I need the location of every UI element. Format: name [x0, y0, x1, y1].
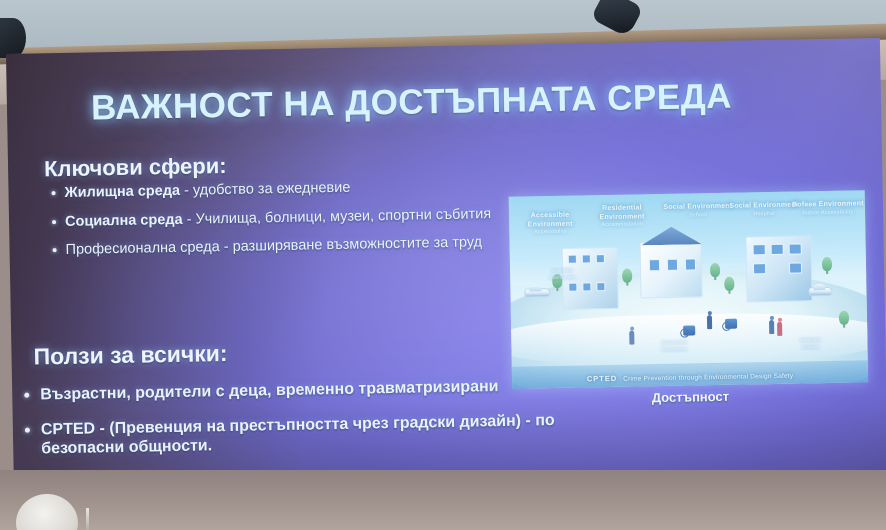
- figure-label: Bofeee Environment Indoor Accessibility: [791, 200, 865, 217]
- figure-inner-tag-sub: Entrepreneur: [641, 346, 707, 354]
- tree-icon: [822, 257, 832, 271]
- microphone-stand: [86, 508, 89, 530]
- figure-inner-tag: Accessible Environment: [532, 267, 592, 281]
- figure-label-sub: Accommodation: [583, 221, 661, 229]
- figure-label-sub: Hospital: [727, 210, 801, 218]
- list-item: Възрастни, родители с деца, временно тра…: [20, 376, 565, 405]
- key-areas-list: Жилищна среда - удобство за ежедневие Со…: [48, 177, 501, 259]
- figure-inner-tag-sub: Environment: [532, 274, 592, 282]
- figure-label-title: Social Environment: [663, 203, 732, 211]
- bullet-lead: Жилищна среда: [64, 183, 180, 201]
- figure-inner-tag: Workplace Inclusive: [779, 337, 841, 351]
- figure-label-title: Social Environment: [729, 202, 798, 210]
- bullet-rest: CPTED - (Превенция на престъпността чрез…: [41, 412, 555, 457]
- list-item: Социална среда - Училища, болници, музеи…: [49, 205, 501, 230]
- figure-label-title: Accessible Environment: [528, 212, 573, 228]
- tree-icon: [724, 277, 734, 291]
- figure-label: Accessible Environment Accessibility: [513, 211, 587, 236]
- vehicle-icon: [524, 288, 550, 297]
- projected-slide: ВАЖНОСТ НА ДОСТЪПНАТА СРЕДА Ключови сфер…: [6, 38, 886, 506]
- wheelchair-icon: [725, 319, 737, 329]
- bullet-lead: Социална среда: [65, 211, 183, 229]
- room-foreground-surface: [0, 470, 886, 530]
- figure-label-sub: School: [661, 211, 735, 219]
- wheelchair-icon: [683, 325, 695, 335]
- person-icon: [777, 322, 782, 336]
- bullet-rest: Възрастни, родители с деца, временно тра…: [40, 378, 499, 403]
- vehicle-icon: [808, 287, 832, 296]
- bullet-rest: - удобство за ежедневие: [180, 180, 351, 199]
- ceiling-fixture-secondary: [0, 18, 26, 58]
- figure-label: Residential Environment Accommodation: [583, 204, 661, 229]
- section-heading-benefits: Ползи за всички:: [33, 340, 228, 371]
- person-icon: [629, 331, 634, 345]
- figure-label-title: Bofeee Environment: [792, 200, 864, 208]
- figure-inner-tag: Environment Entrepreneur: [641, 339, 707, 353]
- slide-title: ВАЖНОСТ НА ДОСТЪПНАТА СРЕДА: [91, 77, 733, 129]
- bullet-rest: Професионална среда - разширяване възмож…: [65, 234, 482, 258]
- facility-building: [745, 235, 812, 302]
- list-item: Професионална среда - разширяване възмож…: [49, 234, 501, 259]
- benefits-list: Възрастни, родители с деца, временно тра…: [20, 376, 566, 459]
- figure-label: Social Environment School: [661, 203, 735, 220]
- tree-icon: [710, 263, 720, 277]
- figure-label-sub: Indoor Accessibility: [791, 209, 865, 217]
- house-building: [640, 241, 703, 298]
- figure-label-sub: Accessibility: [513, 228, 587, 236]
- figure-footer-acronym: CPTED: [587, 374, 618, 384]
- illustration-canvas: Accessible Environment Accessibility Res…: [509, 190, 868, 388]
- screenshot-root: ВАЖНОСТ НА ДОСТЪПНАТА СРЕДА Ключови сфер…: [0, 0, 886, 530]
- figure-label-title: Residential Environment: [600, 204, 645, 220]
- figure-caption: Достъпност: [512, 386, 868, 408]
- person-icon: [769, 320, 774, 334]
- person-icon: [707, 315, 712, 329]
- section-heading-key-areas: Ключови сфери:: [44, 153, 227, 182]
- accessibility-illustration: Accessible Environment Accessibility Res…: [509, 190, 868, 388]
- figure-inner-tag-sub: Inclusive: [779, 343, 841, 351]
- bullet-rest: - Училища, болници, музеи, спортни събит…: [182, 206, 491, 228]
- tree-icon: [839, 311, 849, 325]
- tree-icon: [622, 269, 632, 283]
- list-item: CPTED - (Превенция на престъпността чрез…: [21, 411, 567, 459]
